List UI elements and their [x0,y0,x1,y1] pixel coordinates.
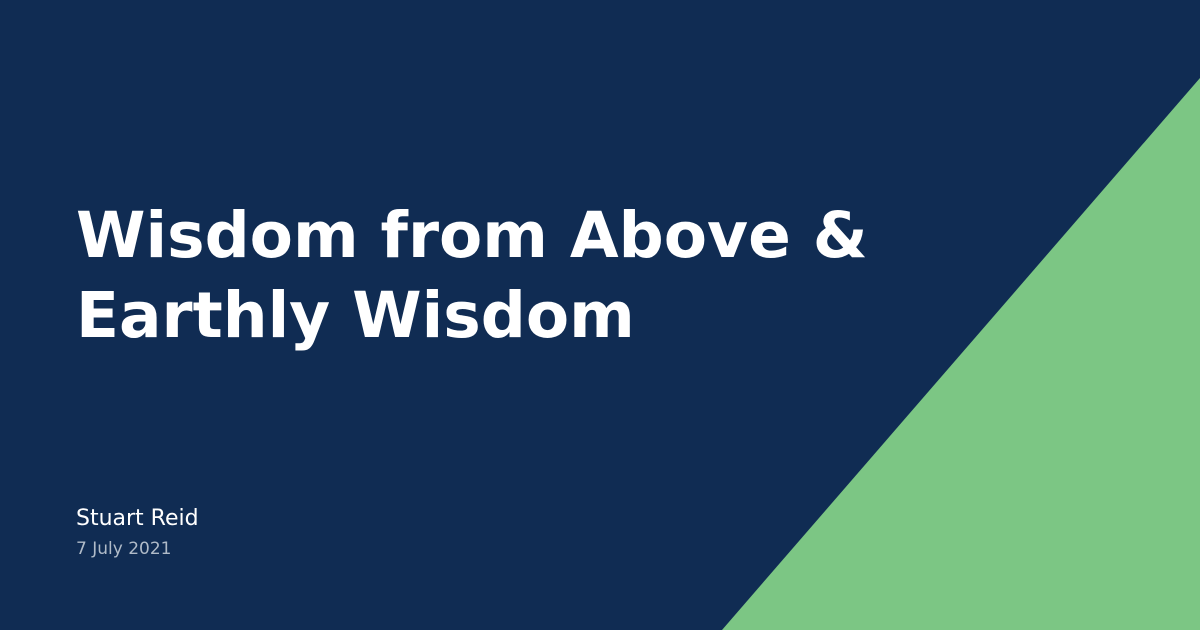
title-block: Wisdom from Above & Earthly Wisdom [76,196,916,356]
title-slide: Wisdom from Above & Earthly Wisdom Stuar… [0,0,1200,630]
slide-content: Wisdom from Above & Earthly Wisdom Stuar… [0,0,1200,630]
presentation-date: 7 July 2021 [76,538,199,560]
byline-block: Stuart Reid 7 July 2021 [76,504,199,560]
page-title: Wisdom from Above & Earthly Wisdom [76,196,916,356]
author-name: Stuart Reid [76,504,199,534]
